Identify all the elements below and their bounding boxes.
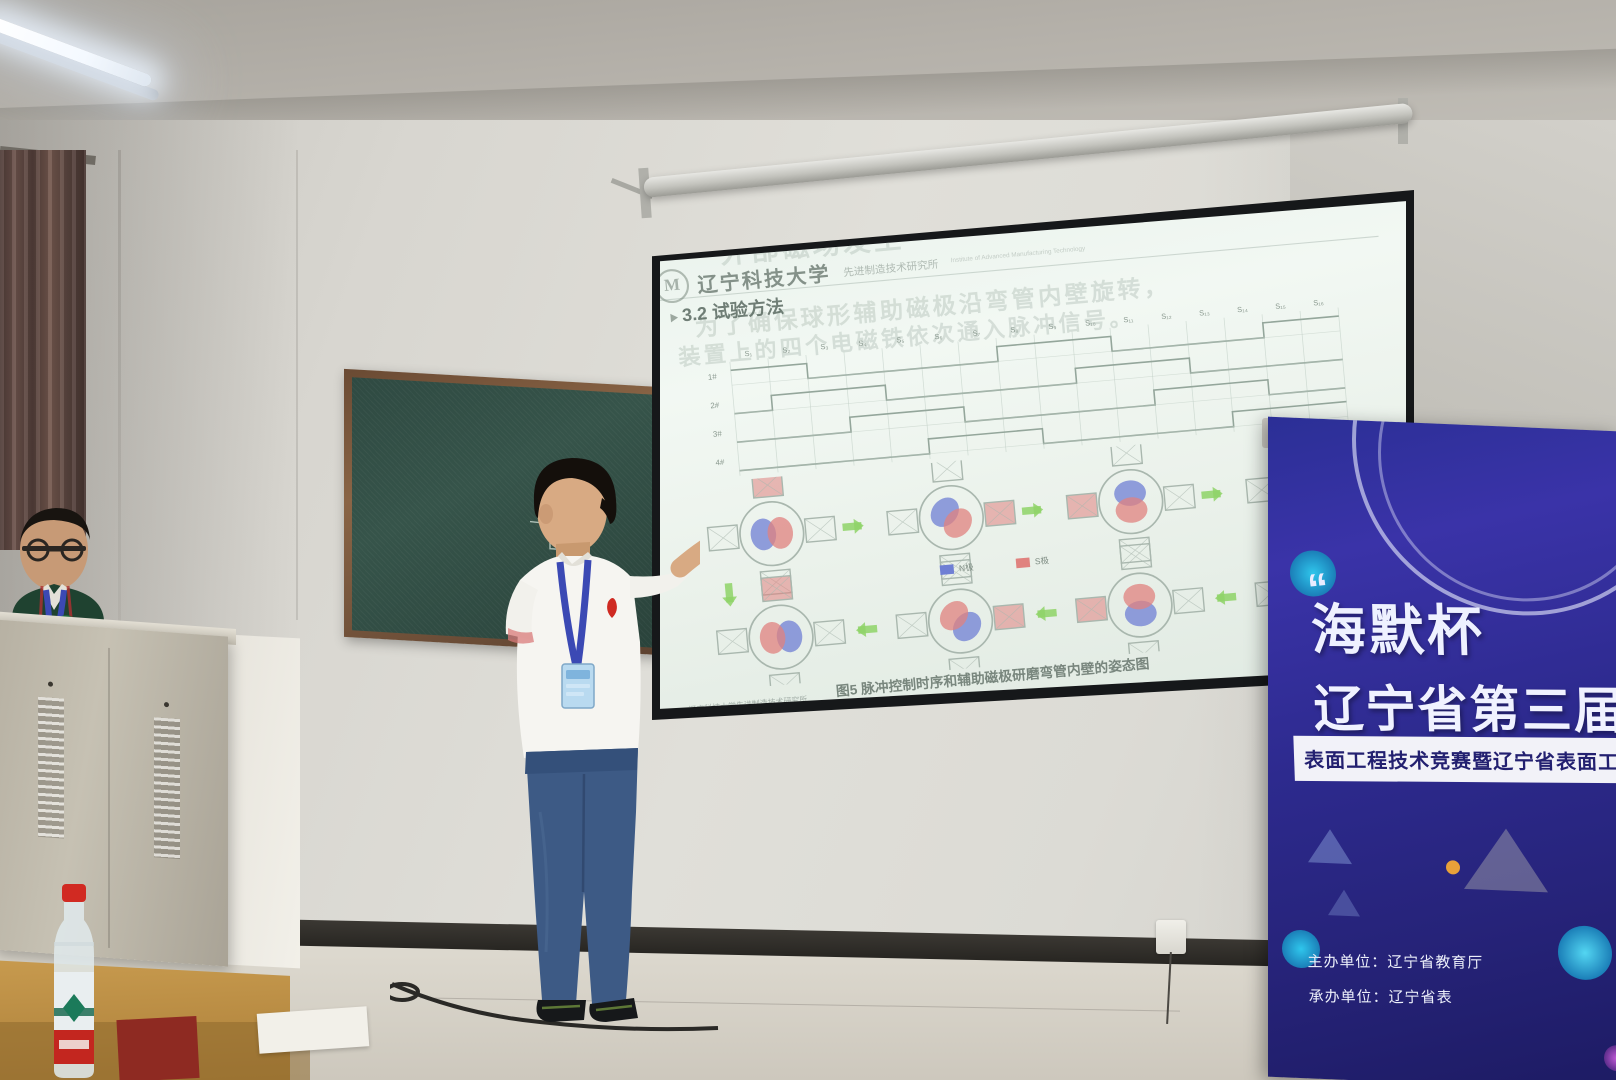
svg-text:S₁₀: S₁₀ (1085, 318, 1096, 328)
papers-on-desk (257, 1006, 370, 1054)
legend-swatch-s (1015, 558, 1030, 569)
red-cloth (116, 1016, 199, 1080)
slide-institute-name-en: Institute of Advanced Manufacturing Tech… (951, 246, 1086, 264)
banner-arc-inner (1378, 417, 1616, 608)
svg-text:S₁₁: S₁₁ (1123, 314, 1134, 324)
svg-text:S₁₄: S₁₄ (1237, 304, 1248, 314)
cabinet-vent-left (38, 697, 64, 839)
section-bullet-icon (670, 313, 678, 322)
slide-footer: 辽宁科技大学先进制造技术研究所 网址: http://www1.ustl.edu… (688, 688, 867, 712)
banner-organizers: 主办单位：辽宁省教育厅 承办单位：辽宁省表 (1307, 945, 1485, 1015)
svg-text:S₁₅: S₁₅ (1275, 301, 1286, 311)
host-value: 辽宁省表 (1388, 988, 1453, 1005)
banner-triangle-1 (1308, 828, 1352, 864)
svg-text:S₅: S₅ (896, 335, 905, 345)
svg-text:S₇: S₇ (972, 328, 981, 338)
presenter (480, 452, 700, 1022)
bottle-cap (62, 884, 86, 902)
svg-text:S₉: S₉ (1048, 321, 1057, 331)
svg-text:S₁₆: S₁₆ (1313, 298, 1324, 308)
svg-text:S₁₃: S₁₃ (1199, 308, 1210, 318)
organizer-value: 辽宁省教育厅 (1387, 954, 1484, 972)
window-curtain (0, 150, 86, 550)
legend-label-n: N极 (959, 563, 974, 574)
svg-text:S₁: S₁ (744, 349, 753, 359)
classroom-photo: M 辽宁科技大学 先进制造技术研究所 Institute of Advanced… (0, 0, 1616, 1080)
water-bottle[interactable] (46, 880, 102, 1080)
svg-text:1#: 1# (707, 372, 717, 382)
banner-triangle-3 (1464, 827, 1548, 893)
banner-subtitle: 表面工程技术竞赛暨辽宁省表面工程 (1293, 736, 1616, 783)
section-number: 3.2 (681, 303, 708, 325)
cabinet-vent-right (154, 717, 180, 859)
metal-cabinet (0, 619, 228, 966)
banner-title-line-2: 辽宁省第三届研 (1312, 669, 1616, 744)
svg-text:S₈: S₈ (1010, 325, 1019, 335)
svg-text:S₆: S₆ (934, 332, 943, 342)
banner-title: 海默杯 辽宁省第三届研 (1309, 585, 1616, 744)
legend-label-s: S极 (1034, 556, 1049, 567)
banner-title-line-1: 海默杯 (1309, 585, 1616, 668)
footer-org: 辽宁科技大学先进制造技术研究所 (688, 688, 865, 712)
cabinet-lock-left[interactable] (48, 681, 53, 686)
svg-text:S₃: S₃ (820, 342, 829, 352)
svg-text:2#: 2# (710, 401, 720, 411)
banner-dot-orange (1446, 860, 1460, 875)
svg-text:4#: 4# (715, 458, 725, 468)
banner-dot-purple (1604, 1045, 1616, 1072)
wall-outlet[interactable] (1156, 920, 1186, 954)
svg-text:S₄: S₄ (858, 338, 867, 348)
wall-seam-secondary (296, 150, 298, 620)
svg-text:3#: 3# (713, 429, 723, 439)
banner-triangle-2 (1328, 889, 1360, 916)
svg-text:S₂: S₂ (782, 345, 791, 355)
banner-host-row: 承办单位：辽宁省表 (1308, 980, 1485, 1016)
host-label: 承办单位： (1308, 988, 1389, 1006)
svg-text:S₁₂: S₁₂ (1161, 311, 1172, 321)
banner-dot-cyan-3 (1558, 925, 1612, 981)
legend-swatch-n (940, 565, 955, 576)
cabinet-lock-right[interactable] (164, 702, 169, 707)
event-banner: “ 海默杯 辽宁省第三届研 表面工程技术竞赛暨辽宁省表面工程 主办单位：辽宁省教… (1268, 417, 1616, 1080)
organizer-label: 主办单位： (1307, 953, 1388, 971)
cabinet-door-divider (108, 648, 110, 948)
banner-organizer-row: 主办单位：辽宁省教育厅 (1307, 945, 1484, 981)
